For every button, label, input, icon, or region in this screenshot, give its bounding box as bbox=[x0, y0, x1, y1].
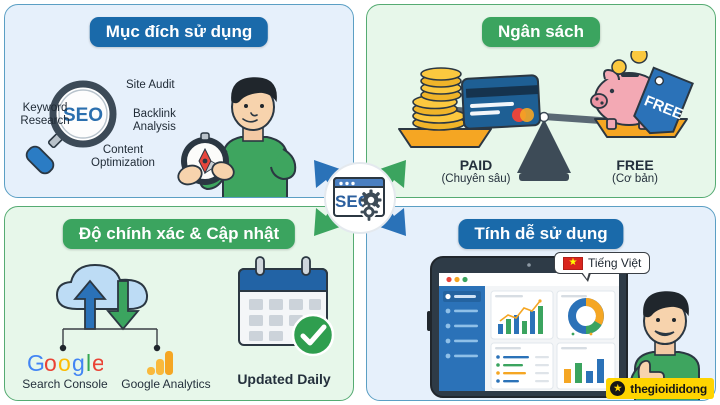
quadrant-title-accuracy: Độ chính xác & Cập nhật bbox=[63, 219, 295, 249]
browser-seo-gears-icon: SEO bbox=[331, 174, 389, 222]
quadrant-card-accuracy: Độ chính xác & Cập nhật bbox=[4, 206, 354, 401]
svg-text:G: G bbox=[27, 351, 45, 376]
quadrant-title-budget: Ngân sách bbox=[482, 17, 600, 47]
watermark-logo: ★ thegioididong bbox=[606, 378, 714, 399]
dashboard-donut-chart bbox=[557, 291, 615, 339]
purpose-illustration: SEO Keyword Research Site Audit Backlink… bbox=[5, 53, 354, 198]
window-maximize-dot bbox=[462, 277, 467, 282]
label-site-audit: Site Audit bbox=[126, 79, 175, 91]
google-analytics-icon bbox=[145, 349, 175, 377]
label-free: FREE bbox=[585, 157, 685, 173]
window-close-dot bbox=[446, 277, 451, 282]
credit-card-icon bbox=[462, 75, 541, 129]
dashboard-bar-line-chart bbox=[491, 291, 553, 339]
quadrant-card-purpose: Mục đích sử dụng SEO Keyword Research Si… bbox=[4, 4, 354, 198]
label-google-analytics: Google Analytics bbox=[111, 377, 221, 391]
label-updated-daily: Updated Daily bbox=[225, 371, 343, 387]
label-paid: PAID bbox=[421, 157, 531, 173]
connector-lines bbox=[63, 329, 157, 346]
center-seo-hub: SEO bbox=[310, 148, 410, 248]
accuracy-illustration bbox=[5, 251, 354, 361]
svg-text:o: o bbox=[44, 351, 57, 376]
bubble-language-label: Tiếng Việt bbox=[588, 256, 641, 270]
svg-text:l: l bbox=[86, 351, 91, 376]
cloud-sync-icon bbox=[57, 265, 147, 329]
seo-badge-circle: SEO bbox=[324, 162, 396, 234]
label-backlink-line2: Analysis bbox=[133, 121, 176, 133]
label-keyword-research-line2: Research bbox=[20, 115, 69, 127]
infographic-root: Mục đích sử dụng SEO Keyword Research Si… bbox=[0, 0, 720, 405]
vietnam-flag-icon: ★ bbox=[563, 257, 583, 270]
dashboard-list-panel bbox=[491, 343, 553, 389]
window-minimize-dot bbox=[454, 277, 459, 282]
label-paid-sub: (Chuyên sâu) bbox=[421, 173, 531, 185]
person-with-compass-illustration bbox=[176, 78, 296, 198]
quadrant-card-budget: Ngân sách bbox=[366, 4, 716, 198]
language-speech-bubble: ★ Tiếng Việt bbox=[554, 252, 650, 274]
label-content-line2: Optimization bbox=[91, 157, 155, 169]
label-backlink-line1: Backlink bbox=[133, 108, 176, 120]
svg-text:e: e bbox=[92, 351, 103, 376]
watermark-text: thegioididong bbox=[630, 382, 707, 396]
quadrant-title-ease-of-use: Tính dễ sử dụng bbox=[458, 219, 623, 249]
google-logo-icon: G o o g l e bbox=[27, 351, 103, 377]
label-search-console: Search Console bbox=[11, 377, 119, 391]
watermark-badge-icon: ★ bbox=[610, 381, 625, 396]
label-keyword-research-line1: Keyword bbox=[23, 102, 68, 114]
check-badge-icon bbox=[293, 315, 333, 355]
label-content-line1: Content bbox=[103, 144, 144, 156]
quadrant-title-purpose: Mục đích sử dụng bbox=[90, 17, 268, 47]
dashboard-sidebar bbox=[439, 286, 485, 391]
falling-coins-icon bbox=[612, 51, 647, 74]
svg-text:o: o bbox=[58, 351, 71, 376]
label-free-sub: (Cơ bản) bbox=[585, 173, 685, 185]
coin-stack-icon bbox=[413, 68, 465, 130]
quadrant-card-ease-of-use: Tính dễ sử dụng bbox=[366, 206, 716, 401]
svg-text:g: g bbox=[72, 351, 85, 376]
